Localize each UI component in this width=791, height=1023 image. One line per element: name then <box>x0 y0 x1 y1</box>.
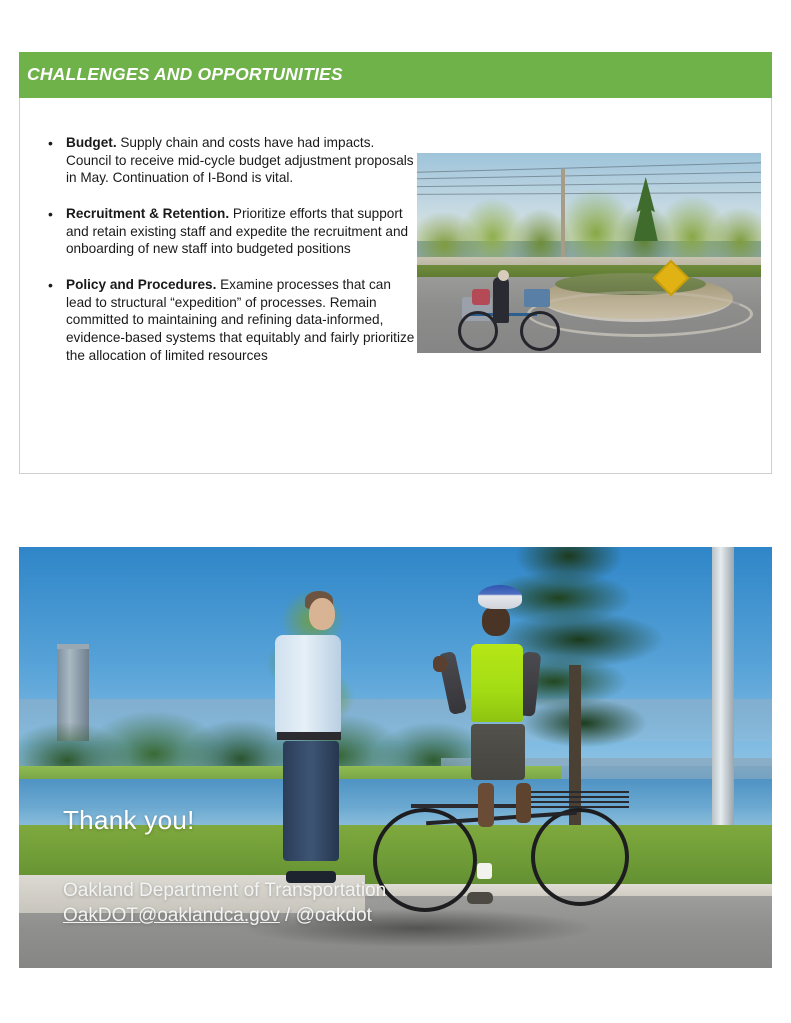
thank-you-text: Thank you! <box>63 805 195 836</box>
bullet-lead: Policy and Procedures. <box>66 277 216 292</box>
photo-cyclist-helmet <box>478 585 522 609</box>
bullet-marker-icon: • <box>48 276 53 294</box>
photo-man-dress-shirt <box>275 635 341 733</box>
photo-bike-handlebar <box>411 804 516 808</box>
photo-cyclist-shorts <box>471 724 525 780</box>
photo-cyclist-leg <box>478 783 494 827</box>
slide1-title: CHALLENGES AND OPPORTUNITIES <box>27 64 343 85</box>
photo-building-roof <box>57 644 89 649</box>
photo-bike-rack <box>524 791 629 809</box>
photo-utility-pole <box>561 169 565 269</box>
bullet-text: Supply chain and costs have had impacts.… <box>66 135 414 185</box>
photo-man-belt <box>277 732 341 740</box>
contact-email-link[interactable]: OakDOT@oaklandca.gov <box>63 905 280 926</box>
contact-line: OakDOT@oaklandca.gov / @oakdot <box>63 905 372 927</box>
photo-bike-wheel <box>373 808 477 912</box>
photo-cyclist-hand <box>433 656 447 672</box>
photo-island-ring <box>527 291 753 337</box>
photo-front-basket <box>524 289 550 307</box>
bullet-marker-icon: • <box>48 205 53 223</box>
slide-thank-you: Thank you! Oakland Department of Transpo… <box>19 547 772 968</box>
slide-challenges-and-opportunities: CHALLENGES AND OPPORTUNITIES • Budget. S… <box>19 52 772 474</box>
photo-cyclist-leg <box>516 783 531 823</box>
list-item: • Budget. Supply chain and costs have ha… <box>41 134 419 187</box>
photo-bike-wheel <box>531 808 629 906</box>
photo-man-head <box>309 598 335 630</box>
photo-cyclist-hi-vis-vest <box>471 644 523 722</box>
bullet-marker-icon: • <box>48 134 53 152</box>
bullet-lead: Budget. <box>66 135 117 150</box>
photo-child-passenger <box>472 289 490 305</box>
list-item: • Recruitment & Retention. Prioritize ef… <box>41 205 419 258</box>
bullet-lead: Recruitment & Retention. <box>66 206 229 221</box>
photo-rider-body <box>493 277 509 323</box>
photo-bike-wheel <box>520 311 560 351</box>
contact-social-handle: @oakdot <box>296 905 372 926</box>
organization-name: Oakland Department of Transportation <box>63 880 386 902</box>
photo-cyclist-head <box>482 606 510 636</box>
photo-cyclist-sock <box>477 863 492 879</box>
photo-light-pole <box>712 547 734 850</box>
photo-rider-head <box>498 270 509 281</box>
bullet-list: • Budget. Supply chain and costs have ha… <box>41 134 419 382</box>
photo-cyclist-shoe <box>467 892 493 904</box>
roundabout-photo <box>417 153 761 353</box>
list-item: • Policy and Procedures. Examine process… <box>41 276 419 364</box>
photo-man-trousers <box>283 741 339 861</box>
contact-separator: / <box>280 905 296 926</box>
slide1-header-banner: CHALLENGES AND OPPORTUNITIES <box>19 52 772 98</box>
